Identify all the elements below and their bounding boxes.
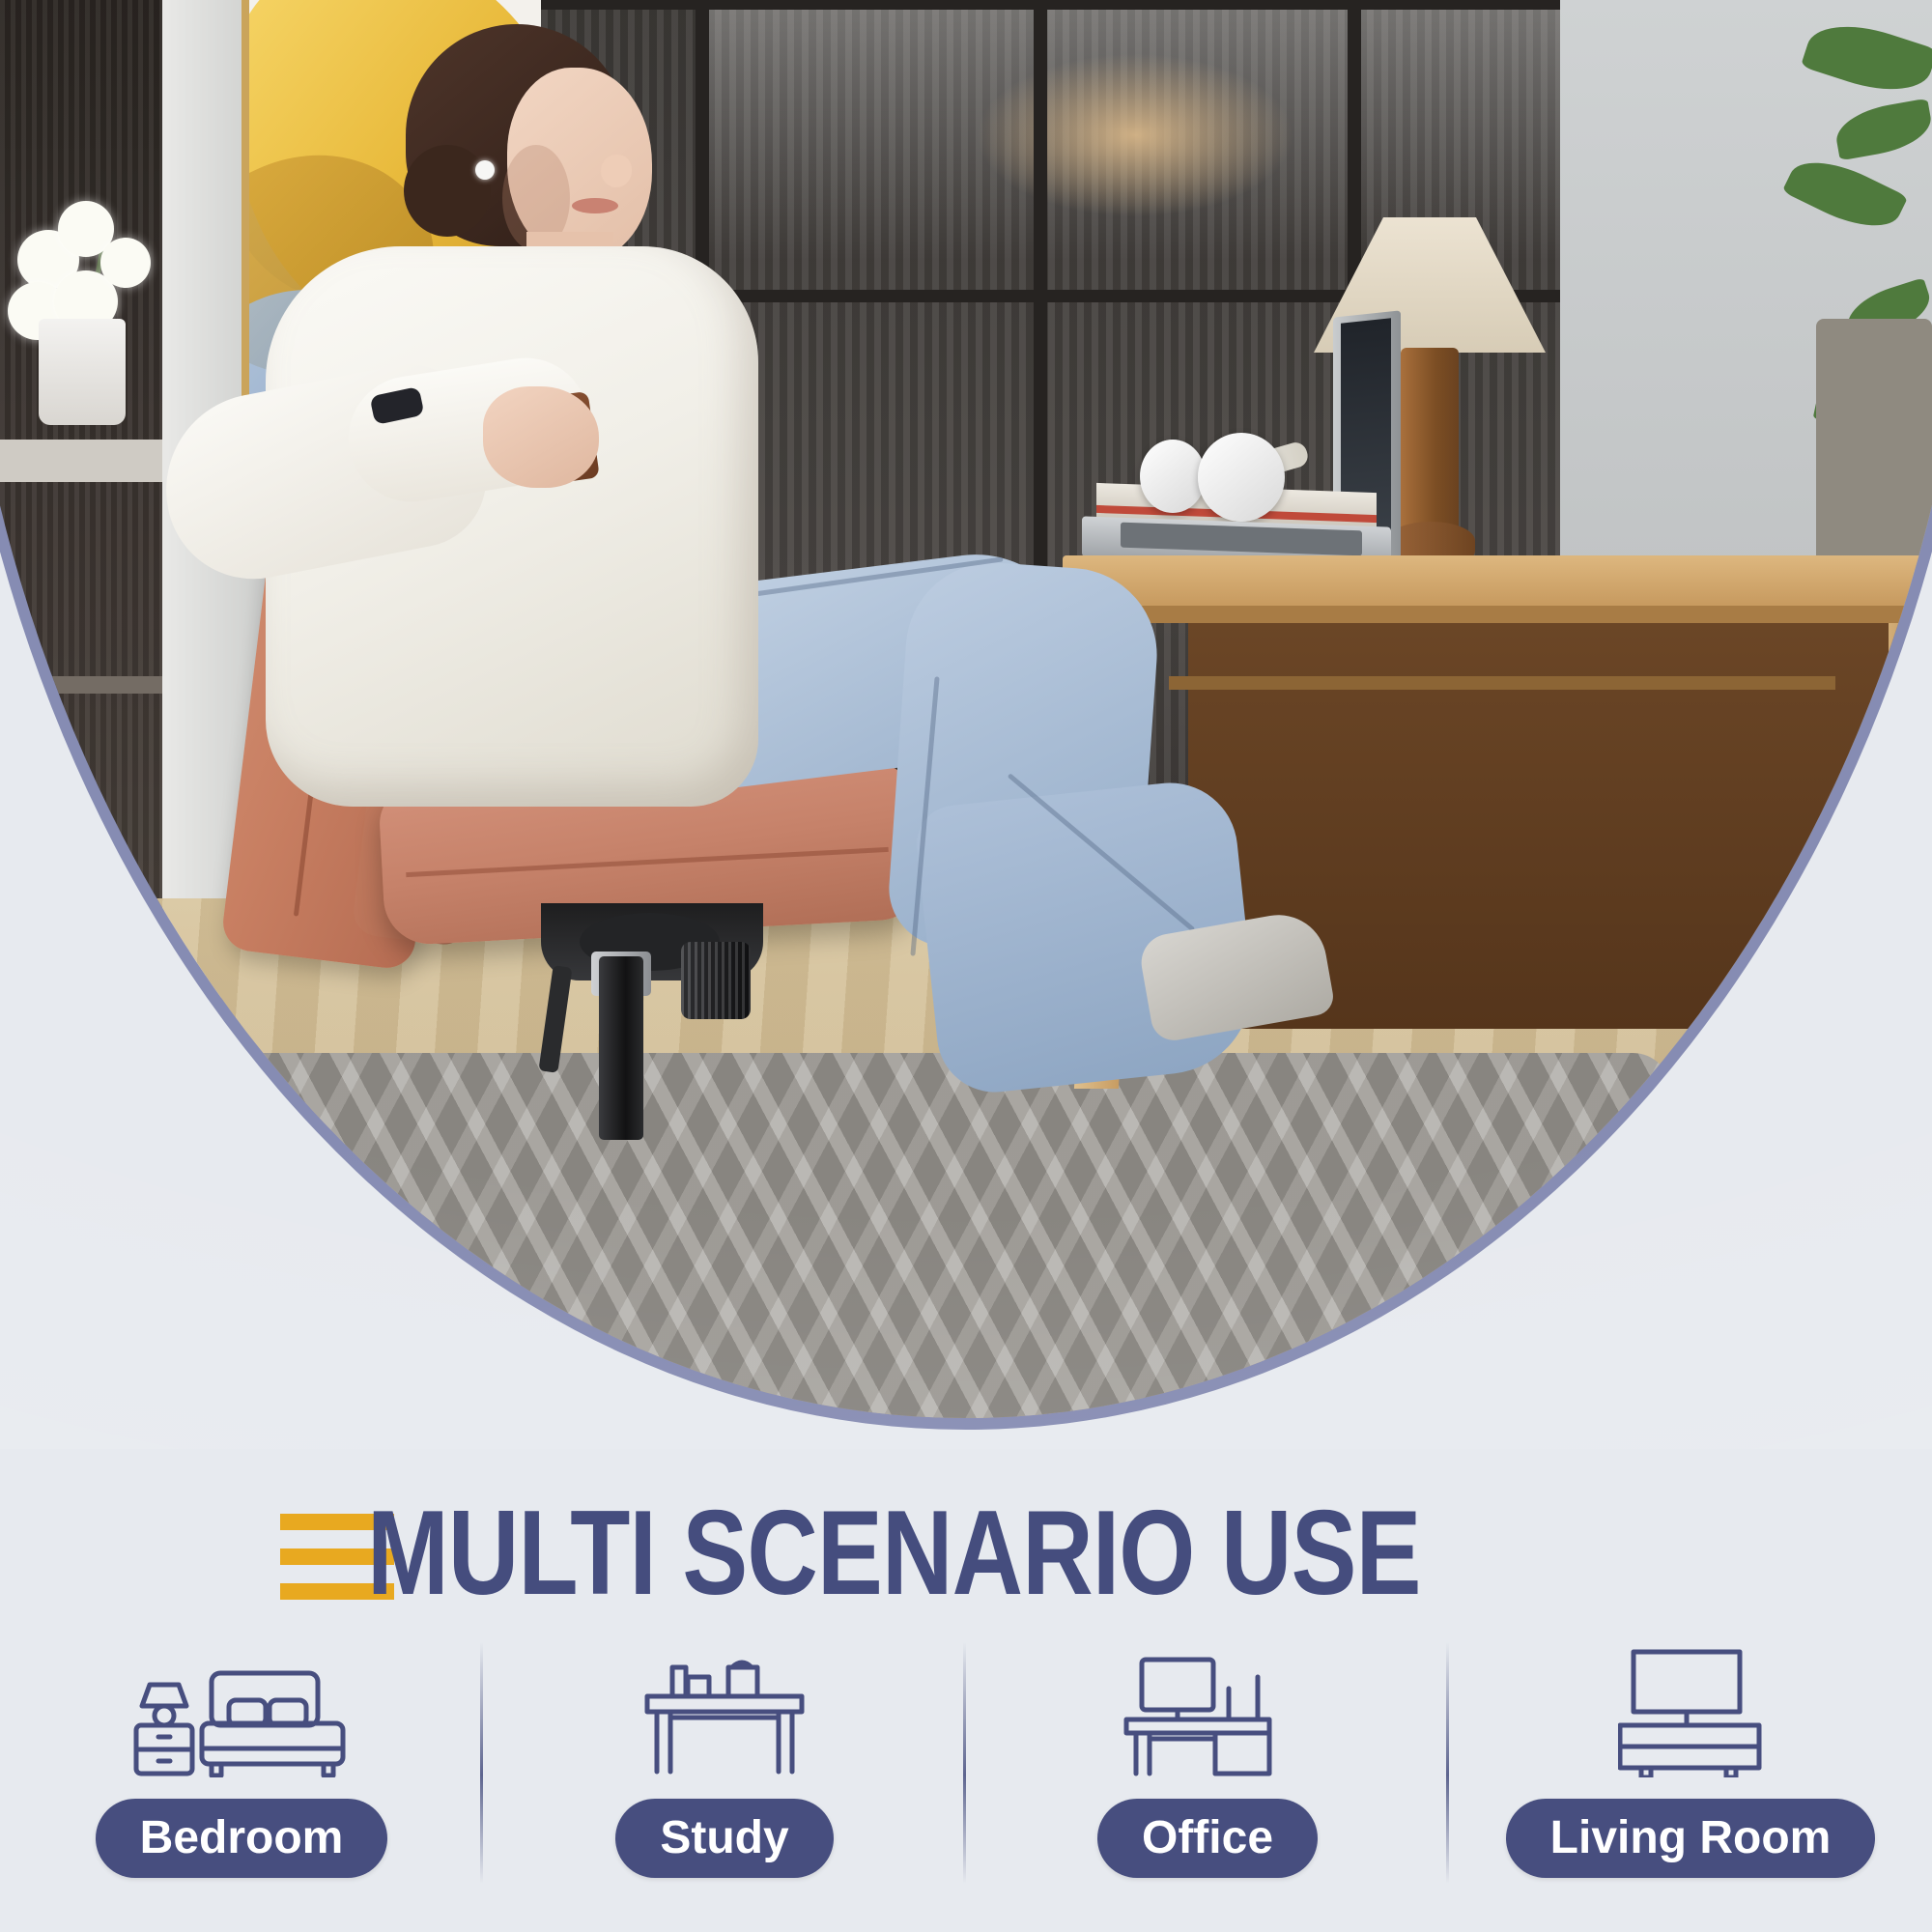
- scenario-list: Bedroom Study: [0, 1642, 1932, 1932]
- headline-row: MULTI SCENARIO USE: [0, 1476, 1932, 1631]
- lifestyle-photo: [0, 0, 1932, 1418]
- scenario-card-study[interactable]: Study: [483, 1642, 966, 1932]
- person-lips: [572, 198, 618, 213]
- headphone-earcup: [1140, 440, 1206, 513]
- scenario-badge-bedroom[interactable]: Bedroom: [96, 1799, 388, 1878]
- person-hair-bun: [404, 145, 491, 237]
- desk-leg: [1889, 606, 1931, 1031]
- shelf-board-lower: [0, 676, 166, 694]
- office-desk-icon: [1122, 1652, 1293, 1777]
- person-nose: [601, 155, 632, 187]
- orchid-flower: [100, 238, 151, 288]
- area-rug: [87, 1053, 1671, 1418]
- cabinet-warm-reflection: [976, 53, 1294, 217]
- person-earring: [475, 160, 495, 180]
- desk-top: [1063, 555, 1932, 606]
- cabinet-rail: [541, 0, 1565, 10]
- scenario-badge-study[interactable]: Study: [615, 1799, 833, 1878]
- hero-image: [0, 0, 1932, 1449]
- scenario-badge-living-room[interactable]: Living Room: [1506, 1799, 1876, 1878]
- plant-pot: [1816, 319, 1932, 570]
- chair-tension-knob: [681, 942, 751, 1019]
- orchid-pot: [39, 319, 126, 425]
- scenario-badge-office[interactable]: Office: [1097, 1799, 1318, 1878]
- scenario-card-living-room[interactable]: Living Room: [1449, 1642, 1932, 1932]
- scenario-card-bedroom[interactable]: Bedroom: [0, 1642, 483, 1932]
- scenario-card-office[interactable]: Office: [966, 1642, 1449, 1932]
- desk-brace: [1169, 676, 1835, 690]
- shelf-board: [0, 440, 166, 482]
- dark-wall-panel: [0, 0, 164, 995]
- hero-ellipse-clip: [0, 0, 1932, 1418]
- desk-edge: [1063, 606, 1932, 623]
- headphone-earcup: [1198, 433, 1285, 522]
- bed-nightstand-icon: [130, 1652, 353, 1777]
- chair-column: [599, 956, 643, 1140]
- study-desk-icon: [641, 1652, 808, 1777]
- page-title: MULTI SCENARIO USE: [367, 1493, 1421, 1613]
- person-hand: [483, 386, 599, 488]
- tv-stand-icon: [1618, 1652, 1763, 1777]
